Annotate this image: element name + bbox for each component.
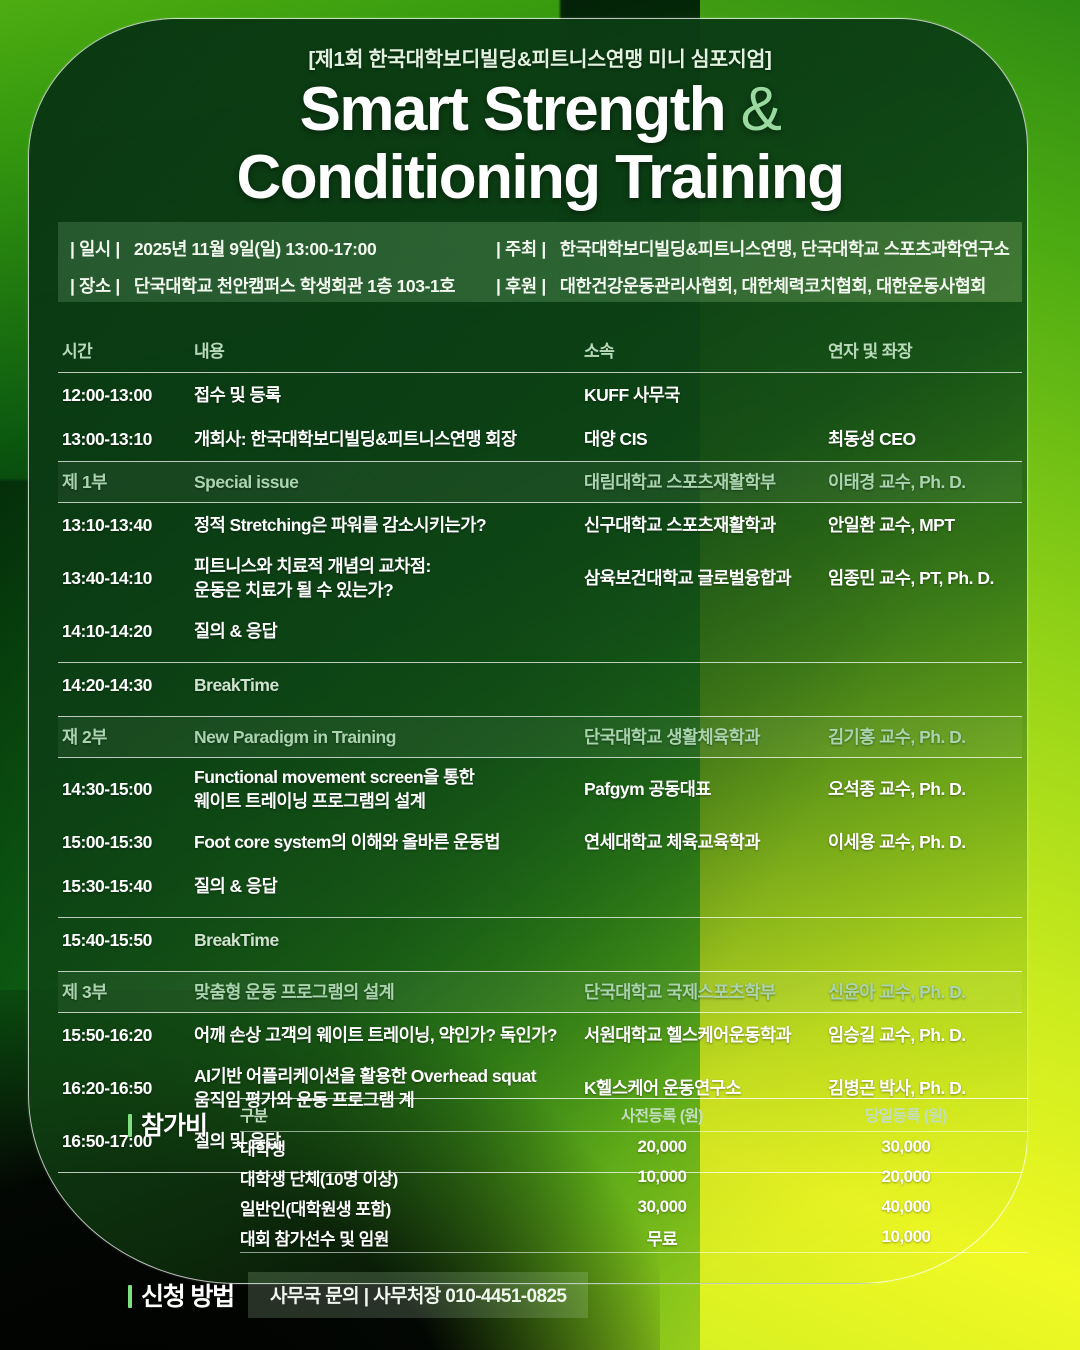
schedule-cell-topic: 접수 및 등록 (194, 383, 584, 407)
schedule-cell-org: 연세대학교 체육교육학과 (584, 830, 828, 854)
fee-cell-onsite: 30,000 (784, 1137, 1028, 1157)
schedule-cell-speaker: 김병곤 박사, Ph. D. (828, 1076, 1022, 1100)
fee-table-row: 일반인(대학원생 포함)30,00040,000 (240, 1192, 1028, 1222)
fee-cell-category: 일반인(대학원생 포함) (240, 1195, 540, 1220)
schedule-cell-time: 14:10-14:20 (58, 619, 194, 643)
schedule-cell-speaker: 임승길 교수, Ph. D. (828, 1023, 1022, 1047)
fee-cell-pre: 10,000 (540, 1167, 784, 1187)
apply-label-text: 신청 방법 (141, 1283, 234, 1311)
schedule-topic-line1: Functional movement screen을 통한 (194, 765, 584, 789)
schedule-cell-time: 15:50-16:20 (58, 1023, 194, 1047)
fee-cell-category: 대학생 (240, 1135, 540, 1160)
fee-cell-onsite: 40,000 (784, 1197, 1028, 1217)
row-spacer (58, 707, 1022, 716)
fee-cell-pre: 무료 (540, 1225, 784, 1250)
schedule-cell-topic: 개회사: 한국대학보디빌딩&피트니스연맹 회장 (194, 427, 584, 451)
schedule-cell-time: 재 2부 (58, 725, 194, 749)
schedule-topic-line2: 웨이트 트레이닝 프로그램의 설계 (194, 789, 584, 813)
schedule-cell-topic: BreakTime (194, 673, 584, 697)
schedule-header-row: 시간내용소속연자 및 좌장 (58, 332, 1022, 372)
schedule-cell-org: 대양 CIS (584, 427, 828, 451)
row-spacer (58, 653, 1022, 662)
fee-table-divider (240, 1252, 1028, 1253)
schedule-topic-line1: 접수 및 등록 (194, 383, 584, 407)
schedule-cell-topic: 질의 & 응답 (194, 874, 584, 898)
table-row: 13:10-13:40정적 Stretching은 파워를 감소시키는가?신구대… (58, 503, 1022, 547)
schedule-cell-speaker: 김기홍 교수, Ph. D. (828, 725, 1022, 749)
schedule-table: 시간내용소속연자 및 좌장12:00-13:00접수 및 등록KUFF 사무국1… (58, 332, 1022, 1173)
table-row: 13:40-14:10피트니스와 치료적 개념의 교차점:운동은 치료가 될 수… (58, 547, 1022, 609)
fee-cell-category: 대회 참가선수 및 임원 (240, 1225, 540, 1250)
schedule-cell-time: 13:10-13:40 (58, 513, 194, 537)
info-sponsor-value: 대한건강운동관리사협회, 대한체력코치협회, 대한운동사협회 (560, 273, 986, 298)
fee-cell-pre: 20,000 (540, 1137, 784, 1157)
fee-cell-pre: 30,000 (540, 1197, 784, 1217)
info-host-label: | 주최 | (496, 236, 546, 261)
title-ampersand: & (741, 75, 781, 144)
fee-column-header-2: 당일등록 (원) (784, 1104, 1028, 1126)
table-row: 제 1부Special issue대림대학교 스포츠재활학부이태경 교수, Ph… (58, 462, 1022, 502)
fee-cell-onsite: 10,000 (784, 1227, 1028, 1247)
info-host-value: 한국대학보디빌딩&피트니스연맹, 단국대학교 스포츠과학연구소 (560, 236, 1010, 261)
row-spacer (58, 908, 1022, 917)
info-row-date: | 일시 | 2025년 11월 9일(일) 13:00-17:00 (70, 236, 455, 261)
schedule-cell-time: 12:00-13:00 (58, 383, 194, 407)
schedule-topic-line1: 개회사: 한국대학보디빌딩&피트니스연맹 회장 (194, 427, 584, 451)
table-row: 12:00-13:00접수 및 등록KUFF 사무국 (58, 373, 1022, 417)
schedule-cell-speaker: 신윤아 교수, Ph. D. (828, 980, 1022, 1004)
info-place-value: 단국대학교 천안캠퍼스 학생회관 1층 103-1호 (134, 273, 455, 298)
schedule-topic-line1: 어깨 손상 고객의 웨이트 트레이닝, 약인가? 독인가? (194, 1023, 584, 1047)
info-sponsor-label: | 후원 | (496, 273, 546, 298)
schedule-topic-line1: Special issue (194, 470, 584, 494)
info-row-sponsor: | 후원 | 대한건강운동관리사협회, 대한체력코치협회, 대한운동사협회 (496, 273, 1009, 298)
fee-table-row: 대학생 단체(10명 이상)10,00020,000 (240, 1162, 1028, 1192)
schedule-cell-time: 14:20-14:30 (58, 673, 194, 697)
schedule-topic-line1: New Paradigm in Training (194, 725, 584, 749)
info-place-label: | 장소 | (70, 273, 120, 298)
info-date-label: | 일시 | (70, 236, 120, 261)
schedule-topic-line1: Foot core system의 이해와 올바른 운동법 (194, 830, 584, 854)
poster-root: [제1회 한국대학보디빌딩&피트니스연맹 미니 심포지엄] Smart Stre… (0, 0, 1080, 1350)
schedule-cell-time: 16:20-16:50 (58, 1076, 194, 1100)
page-title: Smart Strength & Conditioning Training (0, 76, 1080, 212)
schedule-topic-line1: 피트니스와 치료적 개념의 교차점: (194, 554, 584, 578)
schedule-cell-time: 13:40-14:10 (58, 566, 194, 590)
table-row: 15:30-15:40질의 & 응답 (58, 864, 1022, 908)
schedule-topic-line1: 질의 & 응답 (194, 874, 584, 898)
apply-label-bar-icon (128, 1285, 132, 1308)
schedule-cell-org: 서원대학교 헬스케어운동학과 (584, 1023, 828, 1047)
schedule-cell-org: 단국대학교 생활체육학과 (584, 725, 828, 749)
schedule-cell-org: 대림대학교 스포츠재활학부 (584, 470, 828, 494)
schedule-cell-org: KUFF 사무국 (584, 383, 828, 407)
info-column-left: | 일시 | 2025년 11월 9일(일) 13:00-17:00 | 장소 … (70, 236, 455, 298)
table-row: 14:30-15:00Functional movement screen을 통… (58, 758, 1022, 820)
title-line1-text: Smart Strength (300, 75, 741, 144)
schedule-cell-topic: BreakTime (194, 928, 584, 952)
schedule-cell-topic: 질의 & 응답 (194, 619, 584, 643)
schedule-cell-time: 제 1부 (58, 470, 194, 494)
schedule-column-header-0: 시간 (58, 340, 194, 364)
fee-table-row: 대회 참가선수 및 임원무료10,000 (240, 1222, 1028, 1252)
schedule-cell-time: 14:30-15:00 (58, 777, 194, 801)
schedule-column-header-3: 연자 및 좌장 (828, 340, 1022, 364)
schedule-cell-topic: New Paradigm in Training (194, 725, 584, 749)
table-row: 15:40-15:50BreakTime (58, 918, 1022, 962)
apply-section-label: 신청 방법 (128, 1277, 234, 1313)
schedule-cell-topic: 어깨 손상 고객의 웨이트 트레이닝, 약인가? 독인가? (194, 1023, 584, 1047)
schedule-cell-topic: Functional movement screen을 통한웨이트 트레이닝 프… (194, 765, 584, 813)
table-row: 15:00-15:30Foot core system의 이해와 올바른 운동법… (58, 820, 1022, 864)
schedule-cell-speaker: 최동성 CEO (828, 427, 1022, 451)
apply-contact-box[interactable]: 사무국 문의 | 사무처장 010-4451-0825 (248, 1272, 588, 1318)
schedule-cell-speaker: 이태경 교수, Ph. D. (828, 470, 1022, 494)
fee-column-header-0: 구분 (240, 1104, 540, 1126)
schedule-cell-speaker: 오석종 교수, Ph. D. (828, 777, 1022, 801)
schedule-cell-org: 신구대학교 스포츠재활학과 (584, 513, 828, 537)
fee-section-label: 참가비 (128, 1106, 207, 1142)
schedule-topic-line1: 맞춤형 운동 프로그램의 설계 (194, 980, 584, 1004)
info-date-value: 2025년 11월 9일(일) 13:00-17:00 (134, 236, 376, 261)
schedule-cell-topic: Foot core system의 이해와 올바른 운동법 (194, 830, 584, 854)
schedule-topic-line2: 운동은 치료가 될 수 있는가? (194, 578, 584, 602)
schedule-topic-line1: 정적 Stretching은 파워를 감소시키는가? (194, 513, 584, 537)
schedule-cell-speaker: 임종민 교수, PT, Ph. D. (828, 566, 1022, 590)
schedule-cell-org: 삼육보건대학교 글로벌융합과 (584, 566, 828, 590)
schedule-cell-speaker: 이세용 교수, Ph. D. (828, 830, 1022, 854)
fee-cell-category: 대학생 단체(10명 이상) (240, 1165, 540, 1190)
schedule-cell-time: 15:30-15:40 (58, 874, 194, 898)
fee-label-text: 참가비 (141, 1112, 207, 1140)
schedule-cell-org: 단국대학교 국제스포츠학부 (584, 980, 828, 1004)
event-info-box: | 일시 | 2025년 11월 9일(일) 13:00-17:00 | 장소 … (58, 222, 1022, 302)
schedule-cell-speaker: 안일환 교수, MPT (828, 513, 1022, 537)
info-row-host: | 주최 | 한국대학보디빌딩&피트니스연맹, 단국대학교 스포츠과학연구소 (496, 236, 1009, 261)
schedule-cell-time: 제 3부 (58, 980, 194, 1004)
table-row: 13:00-13:10개회사: 한국대학보디빌딩&피트니스연맹 회장대양 CIS… (58, 417, 1022, 461)
schedule-topic-line1: BreakTime (194, 928, 584, 952)
event-eyebrow: [제1회 한국대학보디빌딩&피트니스연맹 미니 심포지엄] (0, 42, 1080, 72)
schedule-column-header-2: 소속 (584, 340, 828, 364)
schedule-column-header-1: 내용 (194, 340, 584, 364)
schedule-cell-time: 13:00-13:10 (58, 427, 194, 451)
schedule-cell-org: K헬스케어 운동연구소 (584, 1076, 828, 1100)
table-row: 14:10-14:20질의 & 응답 (58, 609, 1022, 653)
schedule-topic-line1: AI기반 어플리케이션을 활용한 Overhead squat (194, 1064, 584, 1088)
schedule-topic-line1: BreakTime (194, 673, 584, 697)
schedule-cell-org: Pafgym 공동대표 (584, 777, 828, 801)
poster-content: [제1회 한국대학보디빌딩&피트니스연맹 미니 심포지엄] Smart Stre… (0, 0, 1080, 1350)
fee-cell-onsite: 20,000 (784, 1167, 1028, 1187)
schedule-cell-topic: 정적 Stretching은 파워를 감소시키는가? (194, 513, 584, 537)
fee-header-row: 구분사전등록 (원)당일등록 (원) (240, 1099, 1028, 1131)
apply-section: 신청 방법 사무국 문의 | 사무처장 010-4451-0825 (128, 1272, 588, 1318)
info-row-place: | 장소 | 단국대학교 천안캠퍼스 학생회관 1층 103-1호 (70, 273, 455, 298)
fee-table: 구분사전등록 (원)당일등록 (원)대학생20,00030,000대학생 단체(… (240, 1098, 1028, 1253)
schedule-cell-time: 15:00-15:30 (58, 830, 194, 854)
fee-label-bar-icon (128, 1114, 132, 1137)
schedule-cell-topic: Special issue (194, 470, 584, 494)
schedule-cell-topic: 피트니스와 치료적 개념의 교차점:운동은 치료가 될 수 있는가? (194, 554, 584, 602)
table-row: 14:20-14:30BreakTime (58, 663, 1022, 707)
info-column-right: | 주최 | 한국대학보디빌딩&피트니스연맹, 단국대학교 스포츠과학연구소 |… (496, 236, 1009, 298)
fee-column-header-1: 사전등록 (원) (540, 1104, 784, 1126)
table-row: 제 3부맞춤형 운동 프로그램의 설계단국대학교 국제스포츠학부신윤아 교수, … (58, 972, 1022, 1012)
fee-table-row: 대학생20,00030,000 (240, 1132, 1028, 1162)
table-row: 15:50-16:20어깨 손상 고객의 웨이트 트레이닝, 약인가? 독인가?… (58, 1013, 1022, 1057)
row-spacer (58, 962, 1022, 971)
table-row: 재 2부New Paradigm in Training단국대학교 생활체육학과… (58, 717, 1022, 757)
schedule-topic-line1: 질의 & 응답 (194, 619, 584, 643)
title-line2-text: Conditioning Training (237, 143, 844, 212)
schedule-cell-time: 15:40-15:50 (58, 928, 194, 952)
schedule-cell-topic: 맞춤형 운동 프로그램의 설계 (194, 980, 584, 1004)
